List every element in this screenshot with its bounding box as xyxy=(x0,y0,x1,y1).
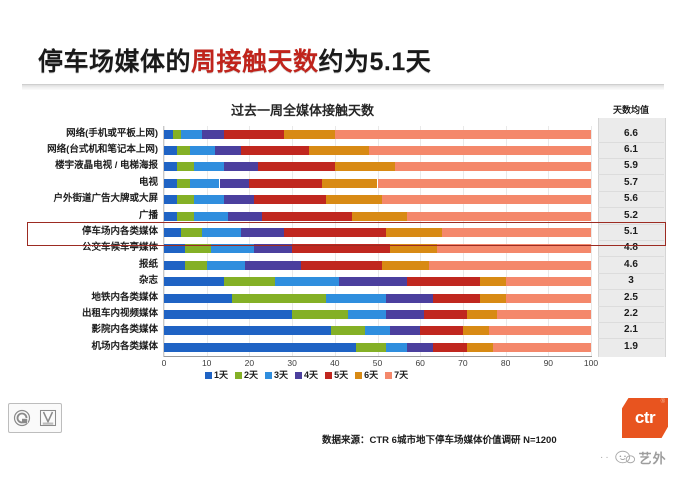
bar-segment-3天 xyxy=(326,294,386,303)
x-axis-tick-label: 60 xyxy=(407,358,433,368)
chart-bar-row xyxy=(164,146,591,155)
mean-value-cell: 5.6 xyxy=(598,191,664,207)
legend-item: 4天 xyxy=(295,371,318,380)
bar-segment-5天 xyxy=(241,146,309,155)
gridline xyxy=(207,126,208,356)
watermark-text: 艺外 xyxy=(639,448,667,467)
bar-segment-3天 xyxy=(190,179,220,188)
quality-check-badge-icon xyxy=(39,409,57,427)
bar-segment-1天 xyxy=(164,130,173,139)
legend-item: 5天 xyxy=(325,371,348,380)
bar-segment-4天 xyxy=(254,244,292,253)
gridline xyxy=(378,126,379,356)
bar-segment-6天 xyxy=(309,146,369,155)
bar-segment-3天 xyxy=(190,146,216,155)
x-axis-tick-label: 50 xyxy=(365,358,391,368)
chart-bar-row xyxy=(164,277,591,286)
x-axis-tick-label: 80 xyxy=(493,358,519,368)
bar-segment-1天 xyxy=(164,228,181,237)
gridline xyxy=(292,126,293,356)
title-suffix: 约为5.1天 xyxy=(319,48,432,76)
bar-segment-2天 xyxy=(185,244,211,253)
legend-label: 4天 xyxy=(304,371,318,380)
bar-segment-1天 xyxy=(164,179,177,188)
gridline xyxy=(463,126,464,356)
legend-swatch-icon xyxy=(325,372,332,379)
category-label: 广播 xyxy=(6,210,158,221)
chart-bar-row xyxy=(164,212,591,221)
bar-segment-7天 xyxy=(395,162,591,171)
title-highlight: 周接触天数 xyxy=(191,48,319,76)
legend-item: 6天 xyxy=(355,371,378,380)
mean-value-cell: 1.9 xyxy=(598,339,664,355)
bar-segment-1天 xyxy=(164,310,292,319)
gridline xyxy=(420,126,421,356)
bar-segment-3天 xyxy=(194,195,224,204)
chart-bar-row xyxy=(164,130,591,139)
bar-segment-2天 xyxy=(173,130,182,139)
legend-swatch-icon xyxy=(295,372,302,379)
bar-segment-3天 xyxy=(202,228,240,237)
bar-segment-7天 xyxy=(335,130,591,139)
bar-segment-5天 xyxy=(433,294,480,303)
gridline xyxy=(164,126,165,356)
legend-item: 1天 xyxy=(205,371,228,380)
bar-segment-7天 xyxy=(442,228,591,237)
bar-segment-3天 xyxy=(207,261,245,270)
bar-segment-1天 xyxy=(164,277,224,286)
category-axis: 网络(手机或平板上网)网络(台式机和笔记本上网)楼宇液晶电视 / 电梯海报电视户… xyxy=(6,126,158,356)
bar-segment-4天 xyxy=(224,195,254,204)
title-band: 停车场媒体的周接触天数约为5.1天 xyxy=(0,18,700,70)
bar-segment-4天 xyxy=(339,277,407,286)
value-column-header: 天数均值 xyxy=(598,103,664,116)
slide-canvas: 停车场媒体的周接触天数约为5.1天 过去一周全媒体接触天数 天数均值 网络(手机… xyxy=(0,0,700,484)
bar-segment-7天 xyxy=(489,326,591,335)
certification-badges xyxy=(8,403,62,433)
bar-segment-1天 xyxy=(164,146,177,155)
legend-label: 1天 xyxy=(214,371,228,380)
registered-mark-icon: ® xyxy=(661,399,665,405)
bar-segment-5天 xyxy=(420,326,463,335)
legend-item: 7天 xyxy=(385,371,408,380)
bar-segment-6天 xyxy=(322,179,378,188)
bar-segment-4天 xyxy=(228,212,262,221)
bar-segment-5天 xyxy=(249,179,322,188)
bar-segment-1天 xyxy=(164,212,177,221)
bar-segment-3天 xyxy=(211,244,254,253)
bar-segment-4天 xyxy=(202,130,223,139)
gridline xyxy=(335,126,336,356)
bar-segment-2天 xyxy=(181,228,202,237)
bar-segment-2天 xyxy=(177,146,190,155)
legend-swatch-icon xyxy=(265,372,272,379)
bar-segment-3天 xyxy=(365,326,391,335)
bar-segment-1天 xyxy=(164,261,185,270)
legend-swatch-icon xyxy=(235,372,242,379)
bar-segment-4天 xyxy=(407,343,433,352)
bar-segment-7天 xyxy=(506,294,591,303)
bar-segment-6天 xyxy=(326,195,382,204)
bar-segment-6天 xyxy=(467,343,493,352)
mean-value-cell: 4.6 xyxy=(598,257,664,273)
category-label: 杂志 xyxy=(6,275,158,286)
chart-bar-row xyxy=(164,343,591,352)
x-axis-tick-label: 40 xyxy=(322,358,348,368)
mean-value-cell: 5.9 xyxy=(598,158,664,174)
category-label: 网络(台式机和笔记本上网) xyxy=(6,144,158,155)
bar-segment-5天 xyxy=(284,228,386,237)
bar-segment-3天 xyxy=(275,277,339,286)
bar-segment-1天 xyxy=(164,294,232,303)
chat-bubble-face-icon xyxy=(615,449,635,465)
bar-segment-7天 xyxy=(382,195,591,204)
chart-bar-row xyxy=(164,326,591,335)
bar-segment-1天 xyxy=(164,162,177,171)
x-axis-tick-label: 20 xyxy=(236,358,262,368)
page-title: 停车场媒体的周接触天数约为5.1天 xyxy=(38,42,431,78)
legend-label: 7天 xyxy=(394,371,408,380)
x-axis-tick-label: 10 xyxy=(194,358,220,368)
bar-segment-4天 xyxy=(386,294,433,303)
chart-bar-row xyxy=(164,162,591,171)
chart-bar-row xyxy=(164,261,591,270)
bar-segment-2天 xyxy=(232,294,326,303)
category-label: 公交车候车亭媒体 xyxy=(6,242,158,253)
bar-segment-6天 xyxy=(284,130,335,139)
legend-swatch-icon xyxy=(355,372,362,379)
bar-segment-6天 xyxy=(480,277,506,286)
x-axis-tick-label: 100 xyxy=(578,358,604,368)
x-axis-line xyxy=(164,356,592,357)
legend-label: 2天 xyxy=(244,371,258,380)
bar-segment-6天 xyxy=(335,162,395,171)
ctr-logo-text: ctr xyxy=(622,408,668,428)
x-axis-tick-label: 30 xyxy=(279,358,305,368)
bar-segment-1天 xyxy=(164,244,185,253)
bar-segment-2天 xyxy=(356,343,386,352)
bar-segment-5天 xyxy=(262,212,352,221)
legend-label: 5天 xyxy=(334,371,348,380)
legend-swatch-icon xyxy=(205,372,212,379)
certification-badge-icon xyxy=(13,409,31,427)
bar-segment-2天 xyxy=(185,261,206,270)
bar-segment-5天 xyxy=(254,195,327,204)
x-axis-tick-label: 70 xyxy=(450,358,476,368)
bar-segment-3天 xyxy=(386,343,407,352)
watermark-dots: ·· xyxy=(600,452,611,463)
gridline xyxy=(249,126,250,356)
chart-plot-area xyxy=(164,126,591,356)
gridline xyxy=(506,126,507,356)
title-prefix: 停车场媒体的 xyxy=(38,48,191,76)
bar-segment-1天 xyxy=(164,326,331,335)
bar-segment-3天 xyxy=(194,212,228,221)
mean-value-cell: 6.1 xyxy=(598,142,664,158)
bar-segment-4天 xyxy=(224,162,258,171)
bar-segment-6天 xyxy=(480,294,506,303)
category-label: 网络(手机或平板上网) xyxy=(6,128,158,139)
legend-label: 3天 xyxy=(274,371,288,380)
x-axis-tick-label: 0 xyxy=(151,358,177,368)
title-divider xyxy=(22,84,664,90)
bar-segment-5天 xyxy=(433,343,467,352)
category-label: 影院内各类媒体 xyxy=(6,324,158,335)
legend-swatch-icon xyxy=(385,372,392,379)
category-label: 电视 xyxy=(6,177,158,188)
bar-segment-3天 xyxy=(181,130,202,139)
x-axis-tick-label: 90 xyxy=(535,358,561,368)
mean-value-cell: 3 xyxy=(598,273,664,289)
bar-segment-3天 xyxy=(348,310,386,319)
category-label: 报纸 xyxy=(6,259,158,270)
bar-segment-2天 xyxy=(292,310,348,319)
bar-segment-7天 xyxy=(369,146,591,155)
bar-segment-6天 xyxy=(390,244,437,253)
chart-bar-row xyxy=(164,310,591,319)
bar-segment-7天 xyxy=(497,310,591,319)
category-label: 停车场内各类媒体 xyxy=(6,226,158,237)
mean-value-cell: 5.1 xyxy=(598,224,664,240)
mean-value-cell: 6.6 xyxy=(598,126,664,142)
legend-item: 3天 xyxy=(265,371,288,380)
bar-segment-6天 xyxy=(352,212,408,221)
bar-segment-2天 xyxy=(177,179,190,188)
bar-segment-4天 xyxy=(390,326,420,335)
gridline xyxy=(548,126,549,356)
bar-segment-7天 xyxy=(506,277,591,286)
bar-segment-4天 xyxy=(215,146,241,155)
bar-segment-6天 xyxy=(463,326,489,335)
bar-segment-4天 xyxy=(245,261,301,270)
bar-segment-3天 xyxy=(194,162,224,171)
bar-segment-7天 xyxy=(429,261,591,270)
category-label: 户外街道广告大牌或大屏 xyxy=(6,193,158,204)
chart-title: 过去一周全媒体接触天数 xyxy=(231,100,374,119)
chart-bar-row xyxy=(164,179,591,188)
bar-segment-4天 xyxy=(220,179,250,188)
bar-segment-5天 xyxy=(292,244,390,253)
bar-segment-5天 xyxy=(258,162,335,171)
ctr-logo: ctr ® xyxy=(622,398,668,438)
legend-item: 2天 xyxy=(235,371,258,380)
chart-bar-row xyxy=(164,244,591,253)
bar-segment-7天 xyxy=(378,179,592,188)
chart-bar-row xyxy=(164,228,591,237)
category-label: 机场内各类媒体 xyxy=(6,341,158,352)
bar-segment-2天 xyxy=(177,195,194,204)
bar-segment-2天 xyxy=(331,326,365,335)
chart-bar-row xyxy=(164,195,591,204)
bar-segment-7天 xyxy=(437,244,591,253)
mean-value-cell: 2.2 xyxy=(598,306,664,322)
bar-segment-5天 xyxy=(301,261,382,270)
data-source-footnote: 数据来源：CTR 6城市地下停车场媒体价值调研 N=1200 xyxy=(322,432,557,446)
bar-segment-4天 xyxy=(241,228,284,237)
bar-segment-6天 xyxy=(382,261,429,270)
bar-segment-4天 xyxy=(386,310,424,319)
chart-legend: 1天2天3天4天5天6天7天 xyxy=(205,369,408,381)
watermark: ·· 艺外 xyxy=(600,446,667,468)
category-label: 出租车内视频媒体 xyxy=(6,308,158,319)
bar-segment-2天 xyxy=(177,162,194,171)
mean-value-cell: 5.7 xyxy=(598,175,664,191)
chart-bar-row xyxy=(164,294,591,303)
bar-segment-2天 xyxy=(177,212,194,221)
bar-segment-7天 xyxy=(493,343,591,352)
bar-segment-6天 xyxy=(386,228,442,237)
bar-segment-1天 xyxy=(164,343,356,352)
bar-segment-5天 xyxy=(407,277,480,286)
legend-label: 6天 xyxy=(364,371,378,380)
bar-segment-7天 xyxy=(407,212,591,221)
mean-value-cell: 4.8 xyxy=(598,240,664,256)
mean-value-cell: 5.2 xyxy=(598,208,664,224)
bar-segment-5天 xyxy=(224,130,284,139)
bar-segment-5天 xyxy=(424,310,467,319)
category-label: 地铁内各类媒体 xyxy=(6,292,158,303)
bar-segment-2天 xyxy=(224,277,275,286)
mean-value-cell: 2.5 xyxy=(598,290,664,306)
category-label: 楼宇液晶电视 / 电梯海报 xyxy=(6,160,158,171)
gridline xyxy=(591,126,592,356)
bar-segment-1天 xyxy=(164,195,177,204)
bar-segment-6天 xyxy=(467,310,497,319)
mean-value-cell: 2.1 xyxy=(598,322,664,338)
